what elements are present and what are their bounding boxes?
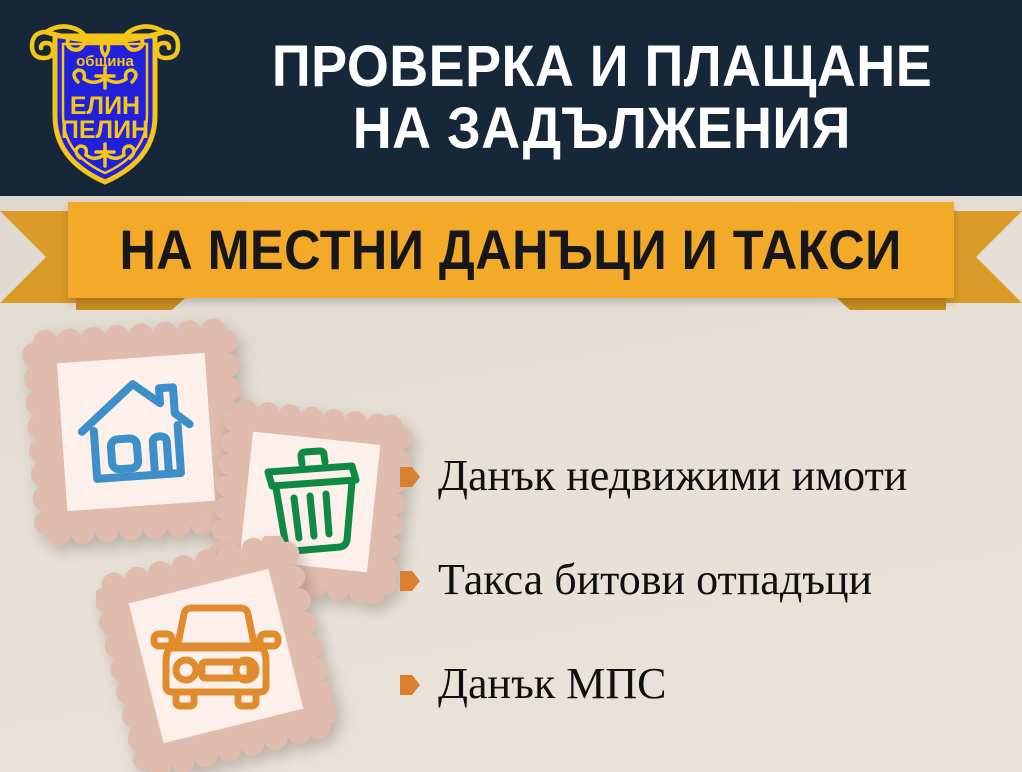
poster-root: община ЕЛИН ПЕЛИН ПРОВЕРКА <box>0 0 1022 772</box>
ribbon-label: НА МЕСТНИ ДАНЪЦИ И ТАКСИ <box>120 222 902 278</box>
coat-of-arms-icon: община ЕЛИН ПЕЛИН <box>22 8 188 190</box>
ribbon-banner: НА МЕСТНИ ДАНЪЦИ И ТАКСИ <box>68 202 954 298</box>
page-title: ПРОВЕРКА И ПЛАЩАНЕ НА ЗАДЪЛЖЕНИЯ <box>196 18 1008 178</box>
tax-type-list: Данък недвижими имоти Такса битови отпад… <box>400 424 1010 736</box>
list-item[interactable]: Такса битови отпадъци <box>400 528 1010 632</box>
arrow-bullet-icon <box>400 465 420 489</box>
stamp-card-vehicle <box>96 536 336 772</box>
list-item-label: Данък МПС <box>438 660 666 708</box>
arrow-bullet-icon <box>400 569 420 593</box>
page-title-line-1: ПРОВЕРКА И ПЛАЩАНЕ <box>272 37 932 97</box>
arrow-bullet-icon <box>400 673 420 697</box>
page-title-line-2: НА ЗАДЪЛЖЕНИЯ <box>353 99 851 159</box>
list-item-label: Данък недвижими имоти <box>438 452 907 500</box>
crest-name-line2: ПЕЛИН <box>61 116 149 144</box>
subtitle-ribbon: НА МЕСТНИ ДАНЪЦИ И ТАКСИ <box>0 196 1022 316</box>
list-item[interactable]: Данък МПС <box>400 632 1010 736</box>
list-item[interactable]: Данък недвижими имоти <box>400 424 1010 528</box>
list-item-label: Такса битови отпадъци <box>438 556 872 604</box>
